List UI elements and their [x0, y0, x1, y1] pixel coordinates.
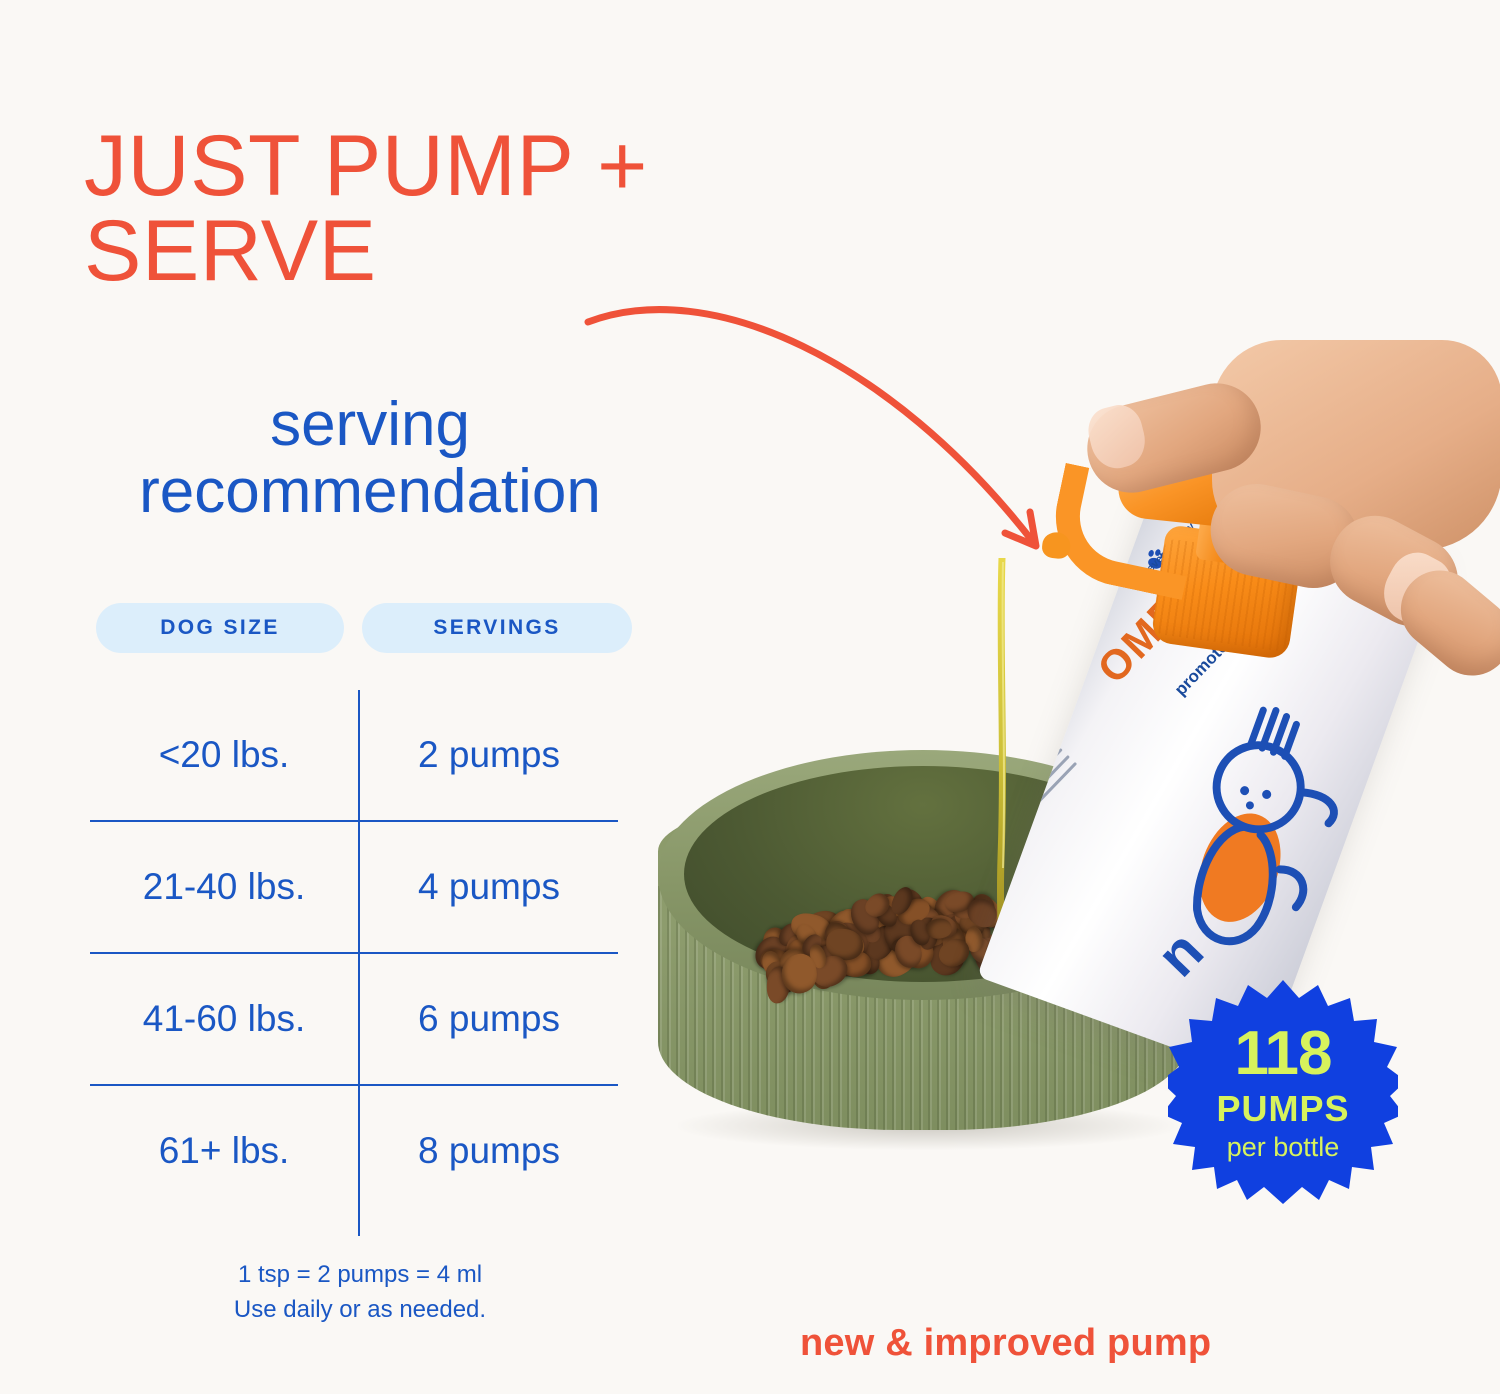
serving-fineprint: 1 tsp = 2 pumps = 4 ml Use daily or as n… [60, 1258, 660, 1328]
cell-servings: 8 pumps [358, 1086, 618, 1216]
cell-servings: 2 pumps [358, 690, 618, 820]
cell-dog-size: 61+ lbs. [90, 1086, 358, 1216]
serving-recommendation-heading: serving recommendation [60, 392, 680, 526]
footer-tagline: new & improved pump [800, 1322, 1211, 1365]
cell-dog-size: 21-40 lbs. [90, 822, 358, 952]
table-row: <20 lbs. 2 pumps [90, 690, 618, 822]
table-row: 61+ lbs. 8 pumps [90, 1086, 618, 1216]
table-header-servings: SERVINGS [362, 603, 632, 653]
serving-table: <20 lbs. 2 pumps 21-40 lbs. 4 pumps 41-6… [90, 690, 618, 1216]
table-header-pills: DOG SIZE SERVINGS [96, 603, 642, 653]
cell-servings: 6 pumps [358, 954, 618, 1084]
pumps-per-bottle-badge: 118 PUMPS per bottle [1168, 978, 1398, 1206]
table-header-dog-size: DOG SIZE [96, 603, 344, 653]
cell-dog-size: 41-60 lbs. [90, 954, 358, 1084]
table-row: 41-60 lbs. 6 pumps [90, 954, 618, 1086]
page-title: JUST PUMP + SERVE [84, 124, 864, 294]
hand [1092, 340, 1500, 700]
table-row: 21-40 lbs. 4 pumps [90, 822, 618, 954]
cell-servings: 4 pumps [358, 822, 618, 952]
starburst-shape [1168, 978, 1398, 1206]
cell-dog-size: <20 lbs. [90, 690, 358, 820]
table-divider-tail [358, 1210, 360, 1236]
advertisement-canvas: JUST PUMP + SERVE serving recommendation… [0, 0, 1500, 1394]
